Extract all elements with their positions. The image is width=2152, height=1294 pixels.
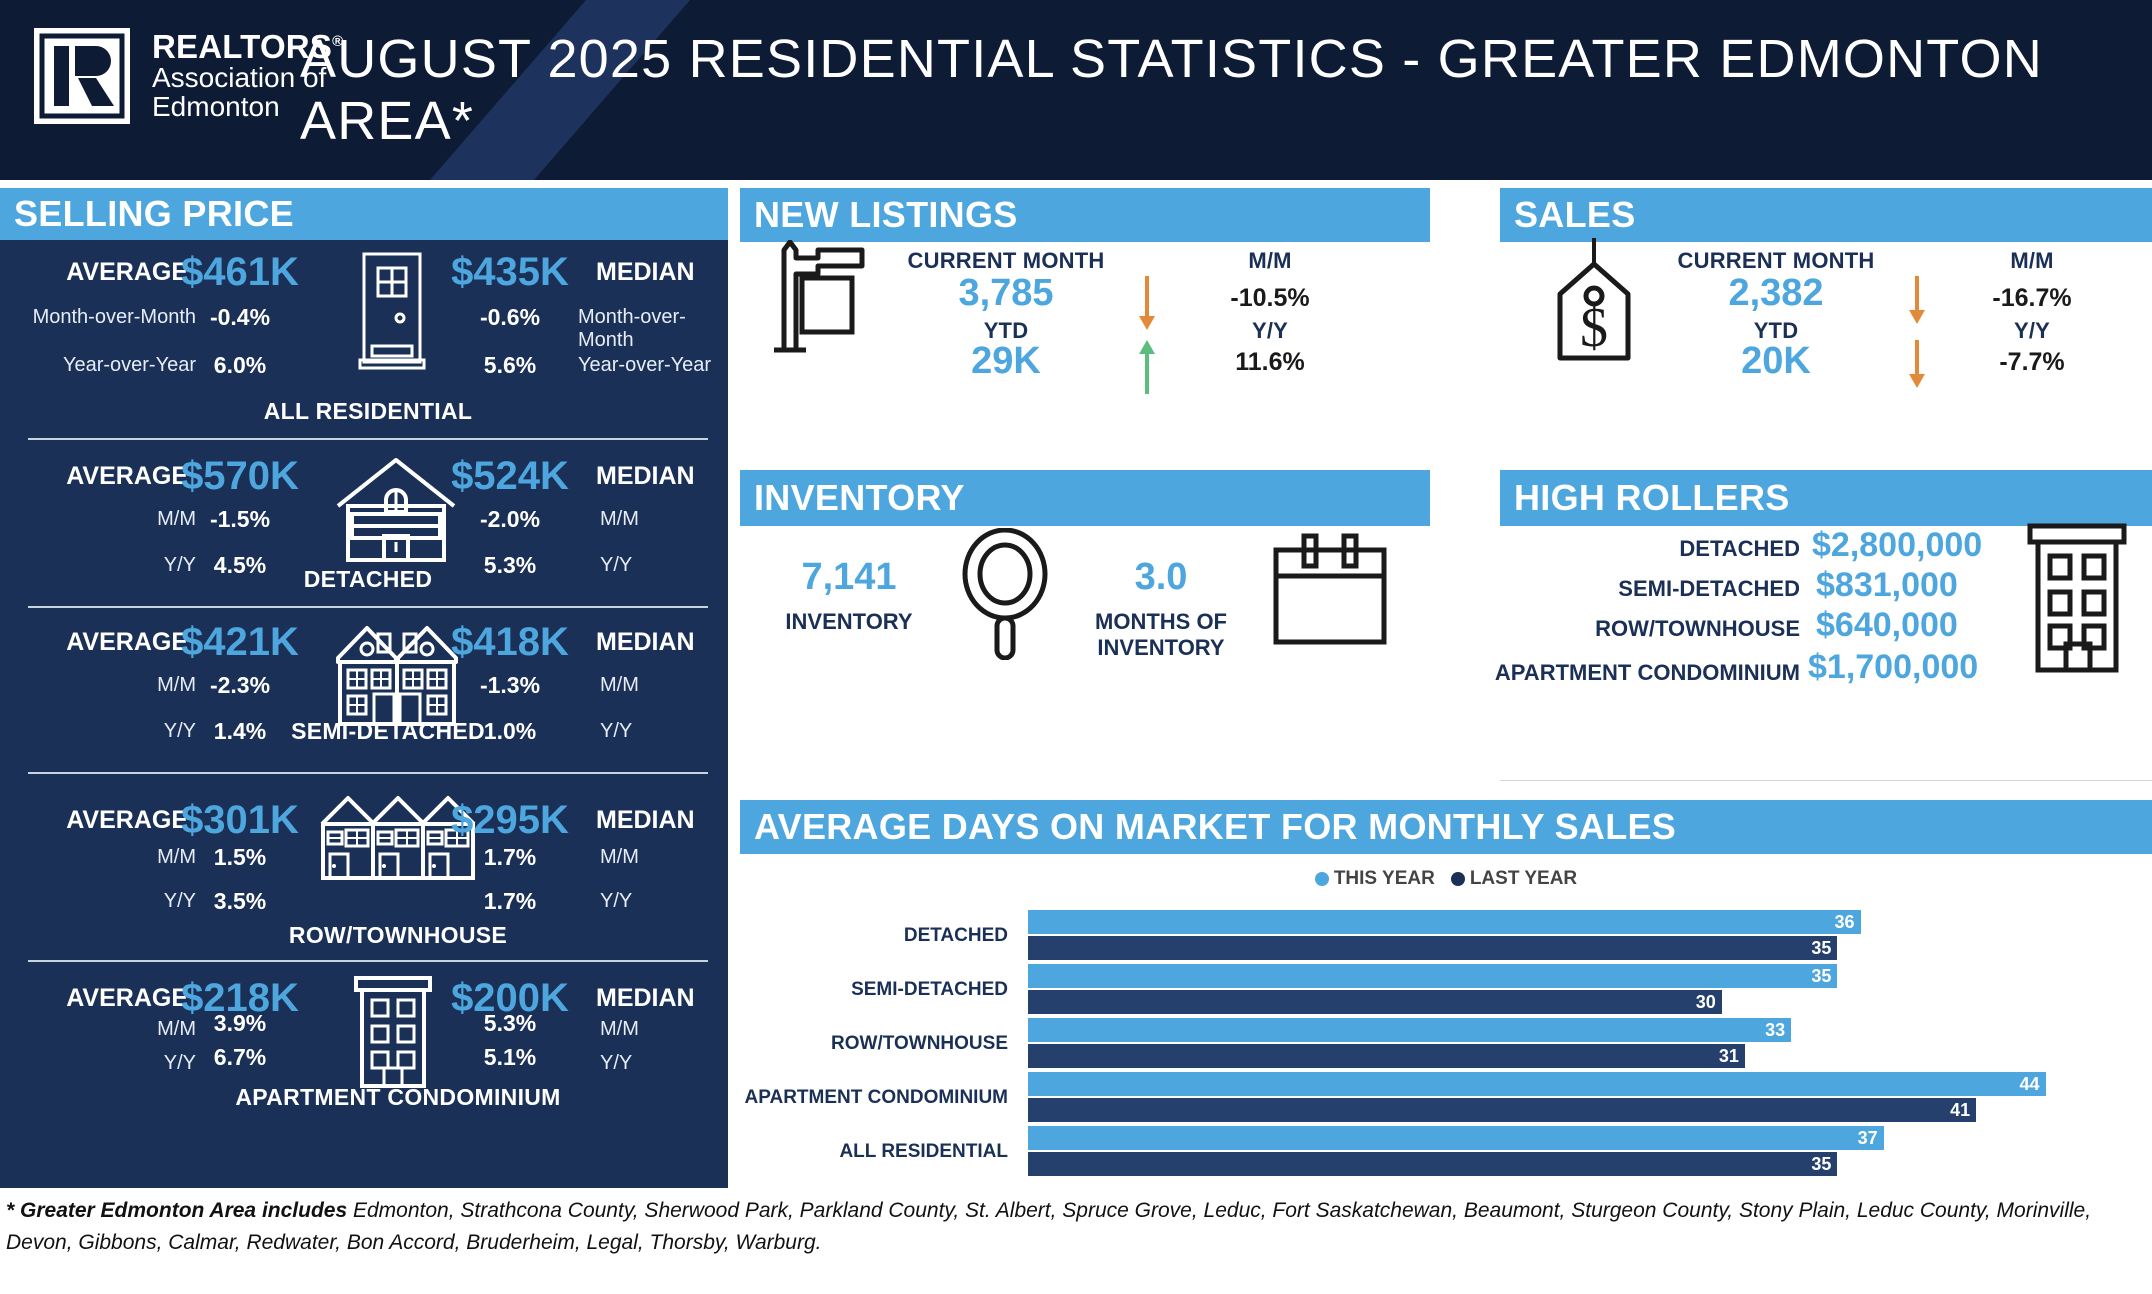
new-listings-mm-value: -10.5%: [1180, 284, 1360, 313]
chart-row-detached: DETACHED 36 35: [740, 910, 2152, 962]
row3-type-label: ROW/TOWNHOUSE: [248, 922, 548, 949]
row4-med-yy-label: Y/Y: [600, 1052, 720, 1075]
high-roller-label-detached: DETACHED: [1500, 536, 1800, 562]
sales-yy-label: Y/Y: [1942, 318, 2122, 344]
bar-last-year-1: 30: [1028, 990, 1722, 1014]
sales-ytd-value: 20K: [1656, 340, 1896, 383]
row0-median-head: MEDIAN: [596, 258, 726, 287]
new-listings-yy-label: Y/Y: [1180, 318, 1360, 344]
bar-last-year-0: 35: [1028, 936, 1837, 960]
high-roller-label-apartment-condominium: APARTMENT CONDOMINIUM: [1474, 660, 1800, 686]
new-listings-section-title: NEW LISTINGS: [740, 188, 1430, 242]
row1-med-mm-label: M/M: [600, 508, 720, 531]
row3-med-mm-label: M/M: [600, 846, 720, 869]
row4-type-label: APARTMENT CONDOMINIUM: [198, 1084, 598, 1111]
inventory-count-label: INVENTORY: [764, 608, 934, 636]
arrow-down-icon: [1906, 340, 1928, 395]
row2-med-mm-label: M/M: [600, 674, 720, 697]
price-tag-icon: $: [1546, 238, 1656, 369]
chart-row-semi-detached: SEMI-DETACHED 35 30: [740, 964, 2152, 1016]
bar-value-this-year-4: 37: [1858, 1128, 1884, 1149]
inventory-body: 7,141 INVENTORY 3.0 MONTHS OF INVENTORY: [740, 526, 1430, 660]
chart-category-label-2: ROW/TOWNHOUSE: [740, 1018, 1018, 1070]
bar-value-this-year-3: 44: [2019, 1074, 2045, 1095]
row2-med-yy-label: Y/Y: [600, 720, 720, 743]
row2-med-mm-value: -1.3%: [420, 672, 600, 699]
chart-row-all-residential: ALL RESIDENTIAL 37 35: [740, 1126, 2152, 1178]
inventory-count-value: 7,141: [764, 556, 934, 599]
high-roller-label-semi-detached: SEMI-DETACHED: [1500, 576, 1800, 602]
arrow-up-icon: [1136, 338, 1158, 399]
chart-body: THIS YEAR LAST YEAR DETACHED 36 35: [740, 854, 2152, 1180]
row3-avg-yy-value: 3.5%: [150, 888, 330, 915]
row2-median-head: MEDIAN: [596, 628, 726, 657]
row3-average-value: $301K: [150, 798, 330, 843]
bar-value-this-year-0: 36: [1834, 912, 1860, 933]
arrow-down-icon: [1136, 276, 1158, 337]
sales-yy-value: -7.7%: [1942, 348, 2122, 377]
sales-section-title: SALES: [1500, 188, 2152, 242]
high-roller-value-apartment-condominium: $1,700,000: [1808, 648, 1978, 687]
new-listings-ytd-value: 29K: [886, 340, 1126, 383]
row0-med-yy-value: 5.6%: [420, 352, 600, 379]
bar-value-last-year-1: 30: [1696, 992, 1722, 1013]
high-roller-value-detached: $2,800,000: [1812, 526, 1982, 565]
new-listings-yy-value: 11.6%: [1180, 348, 1360, 377]
legend-dot-last-year: [1451, 872, 1465, 886]
row1-median-head: MEDIAN: [596, 462, 726, 491]
row1-med-mm-value: -2.0%: [420, 506, 600, 533]
row4-med-yy-value: 5.1%: [420, 1044, 600, 1071]
chart-bars-1: 35 30: [1028, 964, 2138, 1016]
row4-avg-mm-value: 3.9%: [150, 1010, 330, 1037]
bar-this-year-0: 36: [1028, 910, 1861, 934]
svg-text:$: $: [1580, 297, 1608, 359]
chart-rows: DETACHED 36 35 SEMI-DETACHED 35 30: [740, 910, 2152, 1180]
legend-dot-this-year: [1315, 872, 1329, 886]
bar-value-last-year-0: 35: [1811, 938, 1837, 959]
inventory-section: INVENTORY 7,141 INVENTORY 3.0 MONTHS OF …: [740, 470, 1430, 660]
new-listings-body: CURRENT MONTH 3,785 YTD 29K M/M -10.5% Y…: [740, 242, 1430, 352]
row4-med-mm-value: 5.3%: [420, 1010, 600, 1037]
arrow-down-icon: [1906, 276, 1928, 331]
page-header: REALTORS® Association of Edmonton AUGUST…: [0, 0, 2152, 180]
bar-value-last-year-3: 41: [1950, 1100, 1976, 1121]
sales-current-month-label: CURRENT MONTH: [1656, 248, 1896, 274]
sales-mm-value: -16.7%: [1942, 284, 2122, 313]
bar-last-year-4: 35: [1028, 1152, 1837, 1176]
magnifying-glass-icon: [950, 528, 1060, 665]
sales-body: $ CURRENT MONTH 2,382 YTD 20K M/M -16.7%…: [1500, 242, 2152, 352]
selling-price-body: AVERAGE $461K Month-over-Month -0.4% Yea…: [0, 240, 728, 1188]
bar-value-this-year-1: 35: [1811, 966, 1837, 987]
new-listings-current-month-value: 3,785: [886, 272, 1126, 315]
row4-avg-yy-value: 6.7%: [150, 1044, 330, 1071]
months-of-inventory-label-line2: INVENTORY: [1076, 634, 1246, 662]
bar-value-last-year-4: 35: [1811, 1154, 1837, 1175]
row3-median-head: MEDIAN: [596, 806, 726, 835]
row-divider-3: [28, 960, 708, 962]
row2-avg-mm-value: -2.3%: [150, 672, 330, 699]
row3-avg-mm-value: 1.5%: [150, 844, 330, 871]
selling-price-section: SELLING PRICE AVERAGE $461K Month-over-M…: [0, 188, 728, 1188]
row4-median-head: MEDIAN: [596, 984, 726, 1013]
new-listings-section: NEW LISTINGS CURRENT MONTH 3,785 YTD 29K…: [740, 188, 1430, 348]
months-of-inventory-label-line1: MONTHS OF: [1076, 608, 1246, 636]
row2-median-value: $418K: [420, 620, 600, 665]
sales-mm-label: M/M: [1942, 248, 2122, 274]
row3-med-yy-value: 1.7%: [420, 888, 600, 915]
chart-category-label-4: ALL RESIDENTIAL: [740, 1126, 1018, 1178]
bar-this-year-3: 44: [1028, 1072, 2046, 1096]
chart-row-row-townhouse: ROW/TOWNHOUSE 33 31: [740, 1018, 2152, 1070]
inventory-section-title: INVENTORY: [740, 470, 1430, 526]
chart-bars-3: 44 41: [1028, 1072, 2138, 1124]
row2-average-value: $421K: [150, 620, 330, 665]
row1-avg-mm-value: -1.5%: [150, 506, 330, 533]
chart-legend: THIS YEAR LAST YEAR: [740, 868, 2152, 890]
row2-type-label: SEMI-DETACHED: [238, 718, 538, 745]
row1-med-yy-label: Y/Y: [600, 554, 720, 577]
row0-med-mm-label: Month-over-Month: [578, 306, 728, 352]
for-sale-sign-icon: [758, 240, 868, 365]
bar-value-last-year-2: 31: [1719, 1046, 1745, 1067]
high-rollers-divider: [1500, 780, 2152, 781]
legend-item-last-year: LAST YEAR: [1451, 868, 1577, 890]
high-rollers-section: HIGH ROLLERS DETACHED $2,800,000 SEMI-DE…: [1500, 470, 2152, 670]
bar-value-this-year-2: 33: [1765, 1020, 1791, 1041]
calendar-icon: [1268, 532, 1392, 657]
bar-this-year-4: 37: [1028, 1126, 1884, 1150]
row0-avg-mm-value: -0.4%: [150, 304, 330, 331]
row1-type-label: DETACHED: [268, 566, 468, 593]
row0-average-value: $461K: [150, 250, 330, 295]
row0-avg-yy-value: 6.0%: [150, 352, 330, 379]
row0-med-yy-label: Year-over-Year: [578, 354, 728, 377]
row1-average-value: $570K: [150, 454, 330, 499]
footnote: * Greater Edmonton Area includes Edmonto…: [0, 1195, 2152, 1258]
row0-type-label: ALL RESIDENTIAL: [238, 398, 498, 425]
footnote-lead: * Greater Edmonton Area includes: [6, 1199, 347, 1222]
high-roller-value-row-townhouse: $640,000: [1816, 606, 1958, 645]
row3-med-mm-value: 1.7%: [420, 844, 600, 871]
row1-median-value: $524K: [420, 454, 600, 499]
bar-this-year-2: 33: [1028, 1018, 1791, 1042]
row0-median-value: $435K: [420, 250, 600, 295]
chart-bars-4: 37 35: [1028, 1126, 2138, 1178]
bar-this-year-1: 35: [1028, 964, 1837, 988]
days-on-market-chart-section: AVERAGE DAYS ON MARKET FOR MONTHLY SALES…: [740, 800, 2152, 1180]
chart-category-label-1: SEMI-DETACHED: [740, 964, 1018, 1016]
chart-category-label-0: DETACHED: [740, 910, 1018, 962]
row3-median-value: $295K: [420, 798, 600, 843]
legend-label-last-year: LAST YEAR: [1470, 868, 1577, 890]
row-divider-0: [28, 438, 708, 440]
chart-section-title: AVERAGE DAYS ON MARKET FOR MONTHLY SALES: [740, 800, 2152, 854]
months-of-inventory-value: 3.0: [1076, 556, 1246, 599]
high-roller-value-semi-detached: $831,000: [1816, 566, 1958, 605]
row3-med-yy-label: Y/Y: [600, 890, 720, 913]
legend-item-this-year: THIS YEAR: [1315, 868, 1435, 890]
bar-last-year-3: 41: [1028, 1098, 1976, 1122]
selling-price-section-title: SELLING PRICE: [0, 188, 728, 240]
row-divider-1: [28, 606, 708, 608]
high-rollers-body: DETACHED $2,800,000 SEMI-DETACHED $831,0…: [1500, 526, 2152, 686]
row0-med-mm-value: -0.6%: [420, 304, 600, 331]
sales-current-month-value: 2,382: [1656, 272, 1896, 315]
row-divider-2: [28, 772, 708, 774]
page-title: AUGUST 2025 RESIDENTIAL STATISTICS - GRE…: [0, 0, 2152, 180]
high-roller-label-row-townhouse: ROW/TOWNHOUSE: [1500, 616, 1800, 642]
new-listings-current-month-label: CURRENT MONTH: [886, 248, 1126, 274]
apartment-building-icon: [2024, 518, 2130, 683]
legend-label-this-year: THIS YEAR: [1334, 868, 1435, 890]
chart-bars-0: 36 35: [1028, 910, 2138, 962]
row4-med-mm-label: M/M: [600, 1018, 720, 1041]
infographic-page: REALTORS® Association of Edmonton AUGUST…: [0, 0, 2152, 1294]
new-listings-mm-label: M/M: [1180, 248, 1360, 274]
bar-last-year-2: 31: [1028, 1044, 1745, 1068]
chart-category-label-3: APARTMENT CONDOMINIUM: [740, 1072, 1018, 1124]
sales-section: SALES $ CURRENT MONTH 2,382 YTD 20K M/M: [1500, 188, 2152, 348]
chart-bars-2: 33 31: [1028, 1018, 2138, 1070]
chart-row-apartment-condominium: APARTMENT CONDOMINIUM 44 41: [740, 1072, 2152, 1124]
